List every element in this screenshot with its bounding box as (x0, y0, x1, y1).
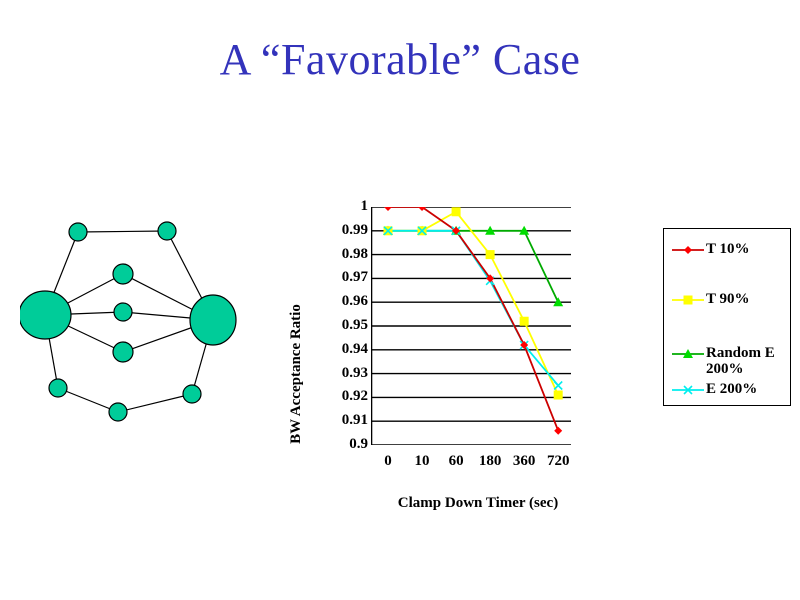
network-node-mid-center (114, 303, 132, 321)
legend-marker-icon (670, 292, 706, 308)
x-axis-label: Clamp Down Timer (sec) (328, 495, 628, 512)
network-edge (118, 394, 192, 412)
network-topology-diagram (20, 205, 270, 440)
y-axis-tick: 0.96 (314, 294, 368, 309)
legend-entry-t-10-: T 10% (670, 241, 749, 258)
y-axis-tick: 1 (314, 199, 368, 214)
legend-marker-icon (670, 346, 706, 362)
series-point (554, 391, 563, 400)
y-axis-tick: 0.92 (314, 389, 368, 404)
network-edge (78, 231, 167, 232)
y-axis-tick: 0.91 (314, 413, 368, 428)
legend-label: Random E 200% (706, 345, 775, 377)
series-point (554, 382, 562, 390)
chart-legend: T 10%T 90%Random E 200%E 200% (663, 228, 791, 406)
network-node-ring-bc (109, 403, 127, 421)
slide-canvas: A “Favorable” Case BW Acceptance Ratio 1… (0, 0, 800, 600)
series-point (452, 207, 461, 216)
series-point (384, 207, 392, 211)
network-edge (58, 388, 118, 412)
network-node-mid-bottom (113, 342, 133, 362)
legend-label: T 10% (706, 241, 749, 257)
x-axis-tick: 720 (533, 453, 583, 470)
y-axis-tick: 0.98 (314, 247, 368, 262)
network-node-gw-right (190, 295, 236, 345)
series-point (486, 250, 495, 259)
x-axis-tick-labels: 01060180360720 (371, 453, 581, 475)
y-axis-tick: 0.93 (314, 366, 368, 381)
y-axis-tick: 0.99 (314, 223, 368, 238)
y-axis-tick: 0.97 (314, 270, 368, 285)
network-topology-svg (20, 205, 270, 440)
network-node-ring-tl (69, 223, 87, 241)
legend-entry-t-90-: T 90% (670, 291, 749, 308)
page-title: A “Favorable” Case (0, 34, 800, 85)
legend-label: T 90% (706, 291, 749, 307)
y-axis-tick: 0.95 (314, 318, 368, 333)
network-node-gw-left (20, 291, 71, 339)
series-point (520, 317, 529, 326)
plot-svg (371, 207, 571, 445)
legend-marker-icon (670, 382, 706, 398)
series-point (554, 427, 562, 435)
network-node-ring-tr (158, 222, 176, 240)
series-line-random-e-200- (388, 231, 558, 302)
legend-entry-random-e-200-: Random E 200% (670, 345, 775, 377)
y-axis-tick: 0.9 (314, 437, 368, 452)
bw-acceptance-chart: BW Acceptance Ratio 10.990.980.970.960.9… (288, 185, 668, 515)
legend-entry-e-200-: E 200% (670, 381, 757, 398)
plot-area (371, 207, 571, 445)
network-node-mid-top (113, 264, 133, 284)
network-node-ring-bl (49, 379, 67, 397)
network-node-ring-br (183, 385, 201, 403)
legend-label: E 200% (706, 381, 757, 397)
legend-marker-icon (670, 242, 706, 258)
y-axis-tick: 0.94 (314, 342, 368, 357)
y-axis-tick-labels: 10.990.980.970.960.950.940.930.920.910.9 (302, 185, 368, 515)
